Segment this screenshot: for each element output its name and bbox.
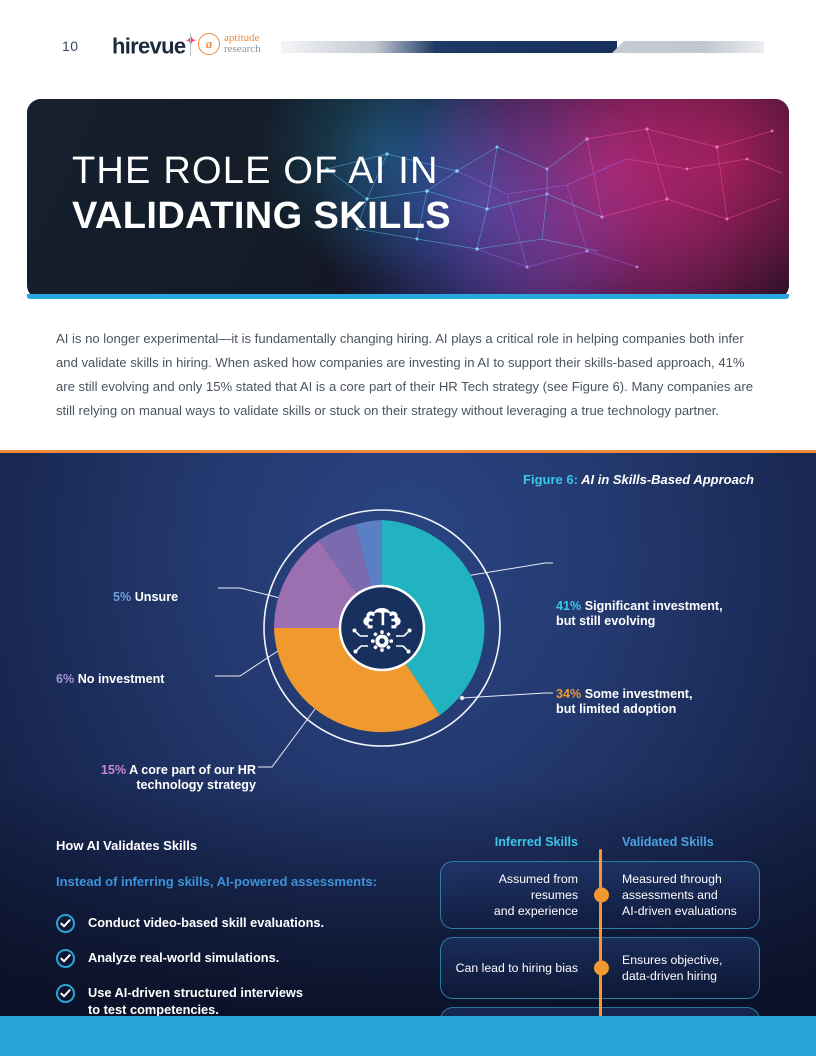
pie-callout-6-pct: 6% (56, 672, 74, 686)
cell-line1: Ensures objective, (622, 953, 722, 967)
hero-banner: THE ROLE OF AI IN VALIDATING SKILLS (27, 99, 789, 299)
list-item: Conduct video-based skill evaluations. (56, 914, 436, 933)
comparison-node-dot (594, 888, 609, 903)
comparison-cell-inferred: Can lead to hiring bias (441, 951, 600, 985)
comparison-header-validated: Validated Skills (600, 835, 760, 849)
pie-callout-41: 41% Significant investment, but still ev… (556, 599, 723, 629)
check-circle-icon (56, 914, 75, 933)
comparison-header-row: Inferred Skills Validated Skills (440, 835, 760, 849)
footer-accent-bar (0, 1016, 816, 1056)
pie-callout-5-pct: 5% (113, 590, 131, 604)
pie-callout-34-line2: but limited adoption (556, 702, 676, 716)
list-item: Analyze real-world simulations. (56, 949, 436, 968)
comparison-cell-inferred: Unreliable predictor of performance (441, 1013, 600, 1016)
pie-callout-34-line1: Some investment, (585, 687, 693, 701)
check-circle-icon (56, 949, 75, 968)
comparison-rows: Assumed from resumes and experience Meas… (440, 861, 760, 1016)
list-item-line1: Analyze real-world simulations. (88, 950, 279, 965)
logo-divider (190, 33, 191, 56)
hero-title-line1: THE ROLE OF AI IN (72, 151, 451, 193)
comparison-header-inferred: Inferred Skills (440, 835, 600, 849)
pie-callout-34-pct: 34% (556, 687, 581, 701)
list-item-text: Conduct video-based skill evaluations. (88, 914, 324, 931)
pie-callout-41-line2: but still evolving (556, 614, 655, 628)
skills-comparison-table: Inferred Skills Validated Skills Assumed… (440, 835, 760, 1016)
cell-line2: data-driven hiring (622, 969, 717, 983)
aptitude-line2: research (224, 44, 261, 55)
header-accent-bar (281, 41, 617, 53)
pie-callout-15-pct: 15% (101, 763, 126, 777)
body-paragraph: AI is no longer experimental—it is funda… (56, 327, 763, 423)
aptitude-research-logo: a aptitude research (198, 33, 261, 55)
list-item-line1: Conduct video-based skill evaluations. (88, 915, 324, 930)
cell-line1: Measured through (622, 872, 722, 886)
comparison-cell-inferred: Assumed from resumes and experience (441, 862, 600, 928)
figure-title: AI in Skills-Based Approach (581, 472, 754, 487)
validates-checklist: Conduct video-based skill evaluations. A… (56, 914, 436, 1016)
pie-callout-34: 34% Some investment, but limited adoptio… (556, 687, 693, 717)
pie-callout-5: 5% Unsure (113, 590, 178, 605)
page-number: 10 (62, 38, 79, 54)
pie-callout-15-line2: technology strategy (136, 778, 256, 792)
comparison-spine-line (599, 849, 602, 1016)
list-item-line2: to test competencies. (88, 1002, 219, 1016)
aptitude-wordmark: aptitude research (224, 33, 261, 55)
cell-line2: assessments and (622, 888, 718, 902)
comparison-cell-validated: Measured through assessments and AI-driv… (600, 862, 759, 928)
page-header: 10 hirevue✦ a aptitude research (0, 0, 816, 88)
hirevue-logo: hirevue✦ (112, 33, 196, 59)
check-circle-icon (56, 984, 75, 1003)
figure-caption: Figure 6: AI in Skills-Based Approach (523, 472, 754, 487)
list-item-text: Analyze real-world simulations. (88, 949, 279, 966)
pie-callout-41-pct: 41% (556, 599, 581, 613)
hero-title-line2: VALIDATING SKILLS (72, 195, 451, 239)
comparison-cell-validated: Ensures objective, data-driven hiring (600, 943, 759, 993)
hero-underline-accent (27, 294, 789, 299)
comparison-cell-validated: Stronger predictor of job success (600, 1013, 759, 1016)
cell-line1: Can lead to hiring bias (456, 961, 578, 975)
pie-chart (262, 508, 502, 748)
infographic-section: Figure 6: AI in Skills-Based Approach (0, 450, 816, 1016)
aptitude-circle-icon: a (198, 33, 220, 55)
pie-callout-5-line1: Unsure (135, 590, 178, 604)
figure-number: Figure 6: (523, 472, 578, 487)
list-item-text: Use AI-driven structured interviews to t… (88, 984, 303, 1016)
pie-callout-6-line1: No investment (78, 672, 165, 686)
pie-center-hub (340, 586, 424, 670)
cell-line2: and experience (494, 904, 578, 918)
validates-heading: How AI Validates Skills (56, 838, 436, 853)
hero-title-block: THE ROLE OF AI IN VALIDATING SKILLS (72, 151, 451, 238)
pie-callout-41-line1: Significant investment, (585, 599, 723, 613)
header-accent-bar-tail (612, 41, 764, 53)
pie-callout-15-line1: A core part of our HR (129, 763, 256, 777)
pie-callout-15: 15% A core part of our HR technology str… (51, 763, 256, 793)
validates-subheading: Instead of inferring skills, AI-powered … (56, 874, 436, 889)
hirevue-wordmark: hirevue (112, 33, 185, 58)
how-ai-validates-block: How AI Validates Skills Instead of infer… (56, 838, 436, 1016)
cell-line3: AI-driven evaluations (622, 904, 737, 918)
list-item: Use AI-driven structured interviews to t… (56, 984, 436, 1016)
comparison-node-dot (594, 961, 609, 976)
pie-chart-area: 41% Significant investment, but still ev… (0, 493, 816, 823)
list-item-line1: Use AI-driven structured interviews (88, 985, 303, 1000)
pie-callout-6: 6% No investment (56, 672, 164, 687)
cell-line1: Assumed from resumes (499, 872, 578, 902)
